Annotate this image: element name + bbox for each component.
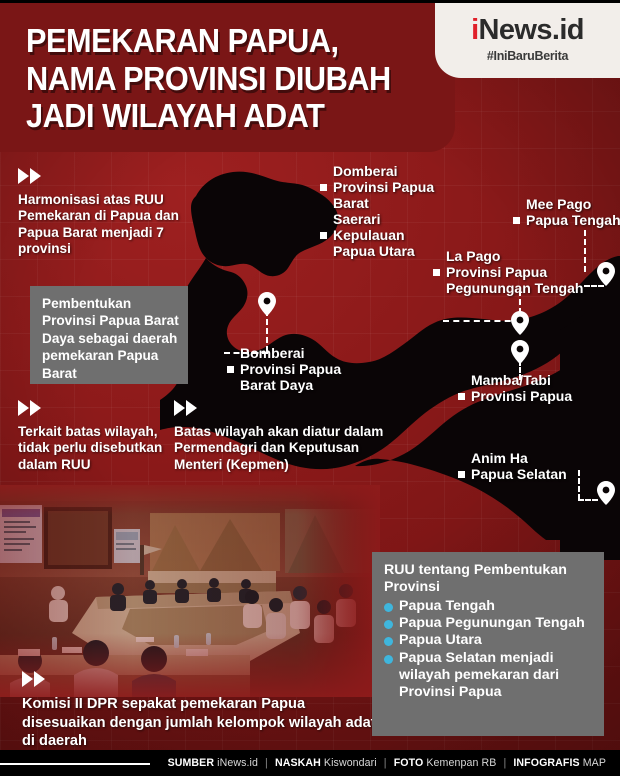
- leader-bomberai-horizontal: [224, 352, 268, 354]
- label-anim-ha-province: Papua Selatan: [458, 466, 567, 482]
- footer-sumber-label: SUMBER: [168, 757, 215, 769]
- page-title-line-1: PEMEKARAN PAPUA,: [26, 22, 417, 60]
- note-batas-wilayah: Terkait batas wilayah, tidak perlu diseb…: [18, 400, 173, 473]
- label-bomberai-province: Provinsi Papua: [227, 361, 341, 377]
- label-anim-ha-kicker: Anim Ha: [458, 450, 567, 466]
- footer-infografis-label: INFOGRAFIS: [513, 757, 579, 769]
- label-mee-pago-kicker: Mee Pago: [513, 196, 620, 212]
- label-domberai-cont: Barat: [320, 195, 434, 211]
- panel-list: Papua Tengah Papua Pegunungan Tengah Pap…: [384, 598, 594, 702]
- leader-mee-pago-vertical: [584, 230, 586, 272]
- note-permendagri: Batas wilayah akan diatur dalam Permenda…: [174, 400, 389, 473]
- list-item: Papua Selatan menjadi wilayah pemekaran …: [384, 650, 594, 702]
- footer-foto-value: Kemenpan RB: [426, 757, 496, 769]
- infographic-root: Domberai Provinsi Papua Barat Saerari Ke…: [0, 0, 620, 776]
- footer-separator: |: [384, 757, 387, 769]
- footer-sumber-value: iNews.id: [217, 757, 258, 769]
- pin-mamba-tabi: [511, 340, 529, 369]
- list-item: Papua Pegunungan Tengah: [384, 615, 594, 632]
- label-la-pago: La Pago Provinsi Papua Pegunungan Tengah: [433, 248, 583, 296]
- inews-logo-i: i: [471, 14, 478, 46]
- pin-mee-pago: [597, 262, 615, 291]
- header: PEMEKARAN PAPUA, NAMA PROVINSI DIUBAH JA…: [0, 0, 620, 152]
- inews-logo[interactable]: iNews.id #IniBaruBerita: [435, 0, 620, 78]
- note-harmonisasi: Harmonisasi atas RUU Pemekaran di Papua …: [18, 168, 193, 258]
- pin-la-pago: [511, 311, 529, 340]
- label-domberai-kicker: Domberai: [320, 163, 434, 179]
- fast-forward-icon: [22, 671, 386, 692]
- page-title: PEMEKARAN PAPUA, NAMA PROVINSI DIUBAH JA…: [26, 22, 417, 135]
- inews-logo-rest: News.id: [479, 14, 584, 46]
- list-item: Papua Utara: [384, 632, 594, 649]
- leader-anim-ha-vertical: [578, 470, 580, 500]
- label-saerari-province: Kepulauan: [320, 227, 415, 243]
- footer-credit-line: SUMBER iNews.id | NASKAH Kiswondari | FO…: [168, 757, 606, 769]
- fast-forward-icon: [18, 400, 173, 421]
- inews-logo-wordmark: iNews.id: [471, 16, 584, 45]
- footer-rule: [0, 763, 150, 765]
- leader-anim-ha-horizontal: [578, 499, 598, 501]
- footer-infografis-value: MAP: [583, 757, 606, 769]
- note-batas-wilayah-text: Terkait batas wilayah, tidak perlu diseb…: [18, 424, 162, 472]
- label-bomberai-cont: Barat Daya: [227, 377, 341, 393]
- photo-edge-fade: [0, 485, 380, 697]
- page-title-line-2: NAMA PROVINSI DIUBAH: [26, 60, 417, 98]
- label-mee-pago-province: Papua Tengah: [513, 212, 620, 228]
- note-harmonisasi-text: Harmonisasi atas RUU Pemekaran di Papua …: [18, 192, 179, 257]
- fast-forward-icon: [18, 168, 193, 189]
- pin-bomberai: [258, 292, 276, 321]
- top-black-strip: [0, 0, 620, 3]
- label-mamba-tabi-kicker: Mamba/Tabi: [458, 372, 572, 388]
- label-la-pago-cont: Pegunungan Tengah: [433, 280, 583, 296]
- footer-separator: |: [503, 757, 506, 769]
- label-saerari-cont: Papua Utara: [320, 243, 415, 259]
- footer-foto-label: FOTO: [394, 757, 424, 769]
- label-saerari-kicker: Saerari: [320, 211, 415, 227]
- label-domberai: Domberai Provinsi Papua Barat: [320, 163, 434, 211]
- label-la-pago-kicker: La Pago: [433, 248, 583, 264]
- label-saerari: Saerari Kepulauan Papua Utara: [320, 211, 415, 259]
- pin-anim-ha: [597, 481, 615, 510]
- photo-caption: Komisi II DPR sepakat pemekaran Papua di…: [0, 671, 400, 750]
- list-item: Papua Tengah: [384, 598, 594, 615]
- footer-separator: |: [265, 757, 268, 769]
- footer-naskah-value: Kiswondari: [324, 757, 377, 769]
- gray-box-text: Pembentukan Provinsi Papua Barat Daya se…: [42, 296, 179, 381]
- photo-caption-text: Komisi II DPR sepakat pemekaran Papua di…: [22, 696, 376, 748]
- label-anim-ha: Anim Ha Papua Selatan: [458, 450, 567, 482]
- label-mee-pago: Mee Pago Papua Tengah: [513, 196, 620, 228]
- panel-heading: RUU tentang Pembentukan Provinsi: [384, 562, 594, 597]
- label-domberai-province: Provinsi Papua: [320, 179, 434, 195]
- page-title-line-3: JADI WILAYAH ADAT: [26, 97, 417, 135]
- label-la-pago-province: Provinsi Papua: [433, 264, 583, 280]
- footer-naskah-label: NASKAH: [275, 757, 321, 769]
- gray-box-papua-barat-daya: Pembentukan Provinsi Papua Barat Daya se…: [30, 286, 188, 384]
- footer-credits: SUMBER iNews.id | NASKAH Kiswondari | FO…: [0, 750, 620, 776]
- photo-dpr-meeting: [0, 485, 380, 697]
- note-permendagri-text: Batas wilayah akan diatur dalam Permenda…: [174, 424, 383, 472]
- fast-forward-icon: [174, 400, 389, 421]
- label-mamba-tabi: Mamba/Tabi Provinsi Papua: [458, 372, 572, 404]
- inews-logo-tagline: #IniBaruBerita: [487, 49, 568, 63]
- leader-la-pago-horizontal: [443, 320, 521, 322]
- label-mamba-tabi-province: Provinsi Papua: [458, 388, 572, 404]
- ruu-province-panel: RUU tentang Pembentukan Provinsi Papua T…: [372, 552, 604, 736]
